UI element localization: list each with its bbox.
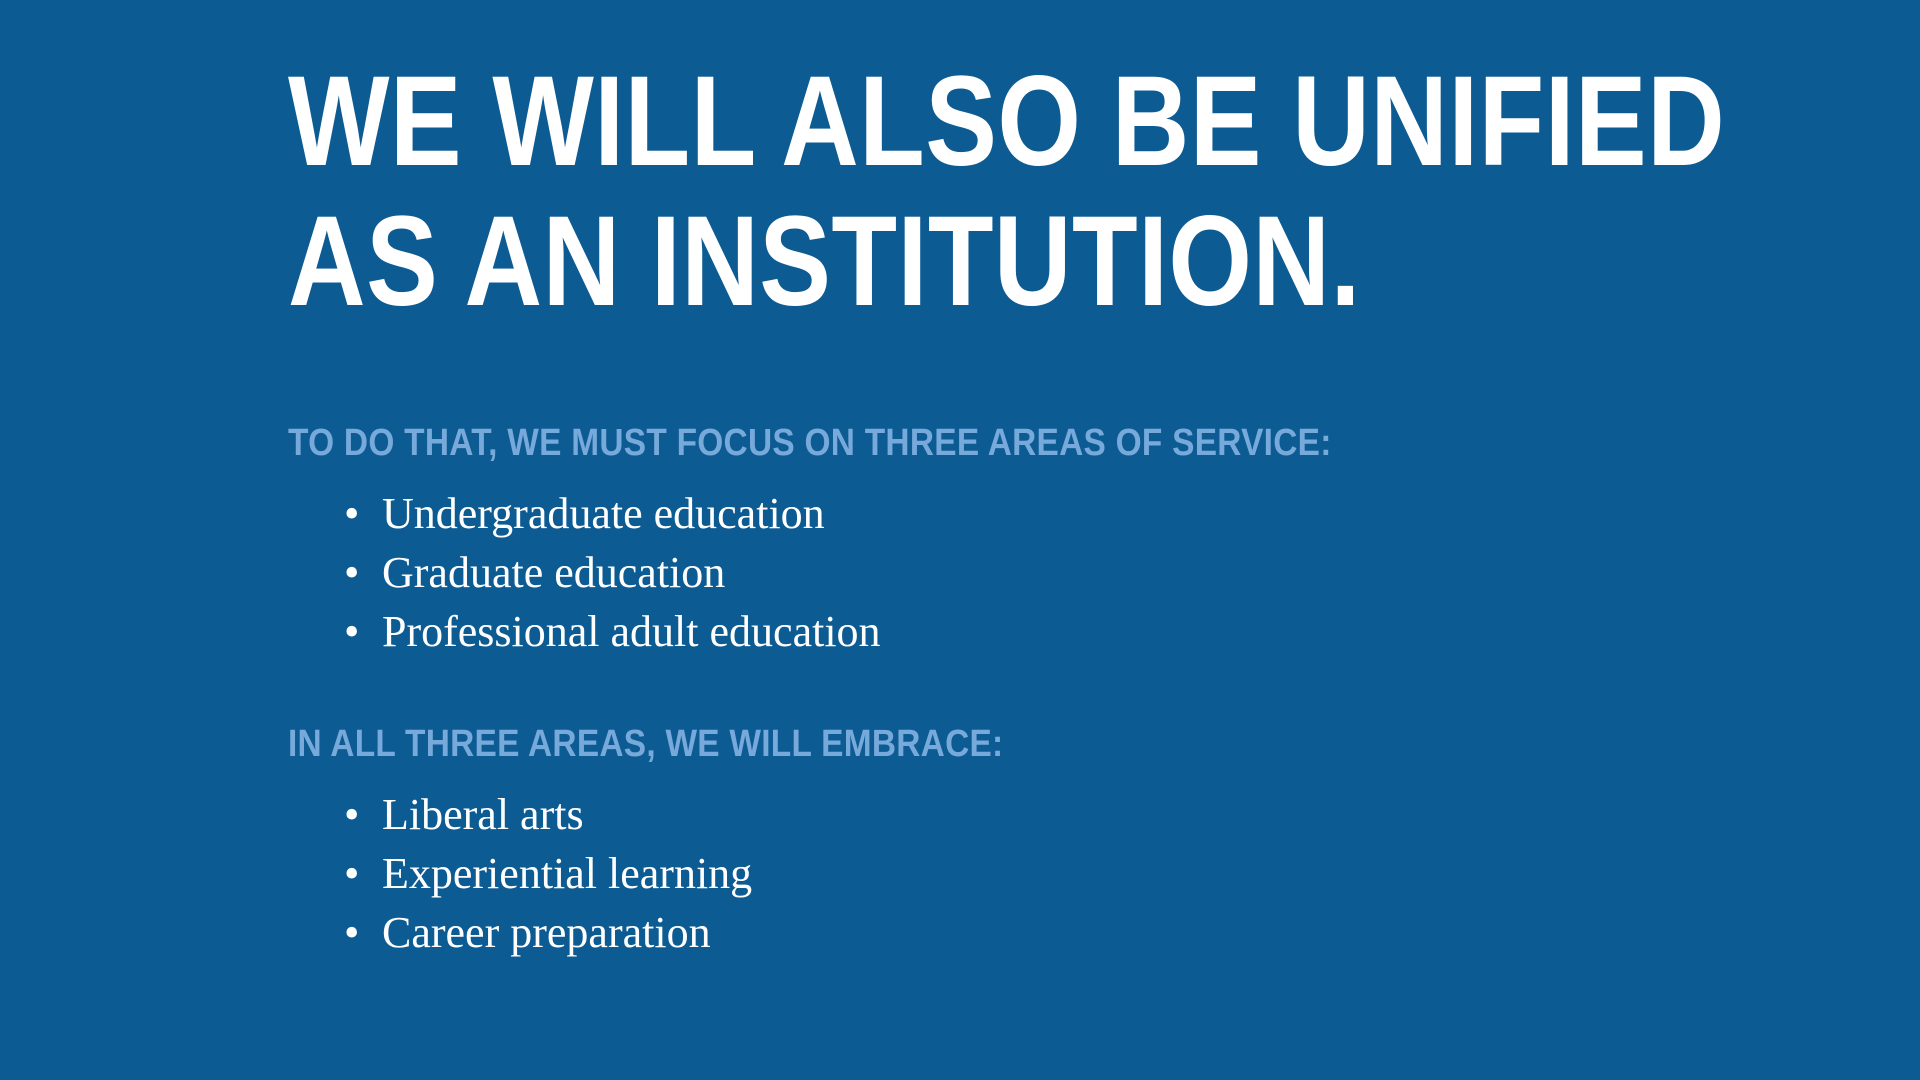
bullet-dot-icon: • bbox=[344, 484, 382, 543]
section-areas-of-service: TO DO THAT, WE MUST FOCUS ON THREE AREAS… bbox=[288, 420, 1688, 661]
bullet-dot-icon: • bbox=[344, 602, 382, 661]
subhead-embrace: IN ALL THREE AREAS, WE WILL EMBRACE: bbox=[288, 721, 1520, 767]
list-item: • Undergraduate education bbox=[344, 484, 1688, 543]
list-item: • Experiential learning bbox=[344, 844, 1688, 903]
section-embrace: IN ALL THREE AREAS, WE WILL EMBRACE: • L… bbox=[288, 721, 1688, 962]
bullet-list-areas-of-service: • Undergraduate education • Graduate edu… bbox=[288, 484, 1688, 661]
bullet-list-embrace: • Liberal arts • Experiential learning •… bbox=[288, 785, 1688, 962]
subhead-areas-of-service: TO DO THAT, WE MUST FOCUS ON THREE AREAS… bbox=[288, 420, 1520, 466]
headline-line-1: WE WILL ALSO BE UNIFIED bbox=[288, 52, 1548, 192]
bullet-dot-icon: • bbox=[344, 903, 382, 962]
presentation-slide: WE WILL ALSO BE UNIFIED AS AN INSTITUTIO… bbox=[0, 0, 1920, 1080]
slide-headline: WE WILL ALSO BE UNIFIED AS AN INSTITUTIO… bbox=[288, 52, 1788, 332]
slide-body: TO DO THAT, WE MUST FOCUS ON THREE AREAS… bbox=[288, 420, 1688, 962]
list-item: • Career preparation bbox=[344, 903, 1688, 962]
list-item-label: Undergraduate education bbox=[382, 489, 825, 538]
list-item-label: Career preparation bbox=[382, 908, 711, 957]
list-item-label: Graduate education bbox=[382, 548, 725, 597]
list-item-label: Liberal arts bbox=[382, 790, 584, 839]
list-item-label: Experiential learning bbox=[382, 849, 752, 898]
bullet-dot-icon: • bbox=[344, 543, 382, 602]
list-item-label: Professional adult education bbox=[382, 607, 881, 656]
bullet-dot-icon: • bbox=[344, 844, 382, 903]
list-item: • Professional adult education bbox=[344, 602, 1688, 661]
headline-line-2: AS AN INSTITUTION. bbox=[288, 192, 1548, 332]
bullet-dot-icon: • bbox=[344, 785, 382, 844]
list-item: • Graduate education bbox=[344, 543, 1688, 602]
list-item: • Liberal arts bbox=[344, 785, 1688, 844]
